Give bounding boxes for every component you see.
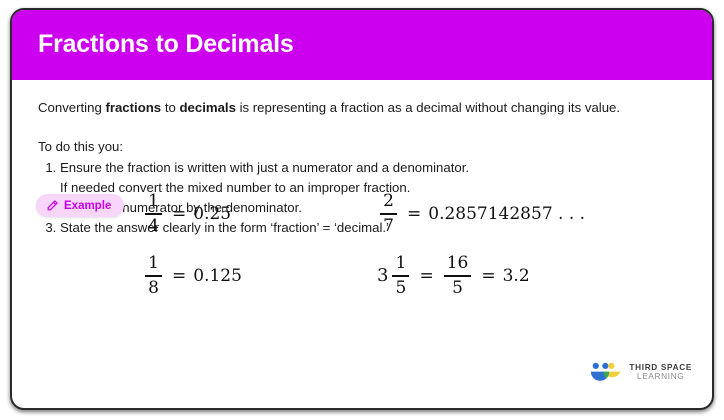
page-title: Fractions to Decimals <box>38 31 294 59</box>
fraction-numerator: 2 <box>380 191 397 213</box>
example-expression: 3 1 5 = 16 5 = 3.2 <box>377 248 612 304</box>
decimal-value: 0.2857142857 . . . <box>428 204 585 224</box>
intro-bold-fractions: fractions <box>105 100 161 115</box>
fraction-bar <box>380 213 397 214</box>
fraction-denominator: 5 <box>393 278 410 300</box>
fraction: 1 8 <box>145 253 162 299</box>
equals-sign: = <box>407 204 421 224</box>
brand-name-line-2: LEARNING <box>629 373 692 382</box>
examples-row: 1 4 = 0.25 2 7 = 0. <box>142 186 612 248</box>
fraction-numerator: 16 <box>444 253 472 275</box>
fraction: 1 4 <box>145 191 162 237</box>
fraction-numerator: 1 <box>393 253 410 275</box>
mixed-number-whole: 3 <box>377 267 389 285</box>
decimal-value: 3.2 <box>503 266 530 286</box>
equals-sign: = <box>172 204 186 224</box>
fraction-bar <box>444 275 472 276</box>
third-space-learning-mark-icon <box>588 360 622 386</box>
improper-fraction: 16 5 <box>444 253 472 299</box>
card-body: Converting fractions to decimals is repr… <box>12 80 712 408</box>
fraction-bar <box>145 213 162 214</box>
decimal-value: 0.25 <box>193 204 231 224</box>
example-expression: 1 8 = 0.125 <box>142 248 377 304</box>
decimal-value: 0.125 <box>193 266 242 286</box>
screenshot-stage: Fractions to Decimals Converting fractio… <box>0 0 724 420</box>
fraction: 1 5 <box>392 253 409 299</box>
step-text: Ensure the fraction is written with just… <box>60 160 469 175</box>
fraction-bar <box>145 275 162 276</box>
fraction-bar <box>392 275 409 276</box>
fraction-numerator: 1 <box>145 253 162 275</box>
equals-sign: = <box>481 266 495 286</box>
fraction-denominator: 8 <box>145 278 162 300</box>
card-header: Fractions to Decimals <box>12 10 712 80</box>
examples-row: 1 8 = 0.125 3 1 5 = <box>142 248 612 310</box>
example-badge: Example <box>36 194 124 217</box>
example-expression: 2 7 = 0.2857142857 . . . <box>377 186 612 242</box>
example-badge-label: Example <box>64 200 111 212</box>
examples-grid: 1 4 = 0.25 2 7 = 0. <box>142 186 612 310</box>
example-expression: 1 4 = 0.25 <box>142 186 377 242</box>
intro-suffix: is representing a fraction as a decimal … <box>236 100 620 115</box>
equals-sign: = <box>419 266 433 286</box>
steps-lead-in: To do this you: <box>38 139 686 154</box>
fraction-denominator: 4 <box>145 216 162 238</box>
pencil-icon <box>46 199 59 212</box>
intro-bold-decimals: decimals <box>179 100 235 115</box>
equals-sign: = <box>172 266 186 286</box>
intro-middle: to <box>161 100 179 115</box>
fraction-denominator: 7 <box>380 216 397 238</box>
intro-paragraph: Converting fractions to decimals is repr… <box>38 98 686 117</box>
fraction: 2 7 <box>380 191 397 237</box>
fraction-denominator: 5 <box>449 278 466 300</box>
brand-logo: THIRD SPACE LEARNING <box>588 360 692 386</box>
intro-prefix: Converting <box>38 100 105 115</box>
lesson-card: Fractions to Decimals Converting fractio… <box>10 8 714 410</box>
brand-logo-text: THIRD SPACE LEARNING <box>629 364 692 381</box>
fraction-numerator: 1 <box>145 191 162 213</box>
